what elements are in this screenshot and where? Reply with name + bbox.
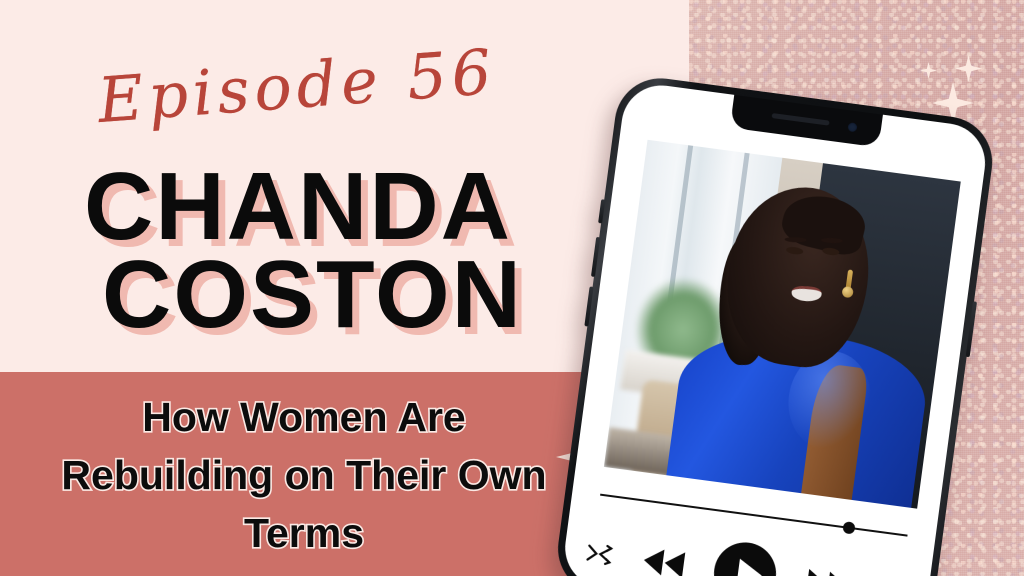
guest-name-block: CHANDA COSTON bbox=[84, 163, 523, 340]
podcast-episode-cover: Episode 56 CHANDA COSTON How Women Are R… bbox=[0, 0, 1024, 576]
phone-body bbox=[552, 73, 997, 576]
episode-title: How Women Are Rebuilding on Their Own Te… bbox=[18, 388, 582, 563]
guest-portrait bbox=[604, 140, 961, 509]
episode-number-script: Episode 56 bbox=[95, 35, 498, 137]
album-artwork bbox=[604, 140, 961, 509]
phone-screen bbox=[560, 81, 990, 576]
phone-mockup bbox=[552, 73, 997, 576]
volume-up-button[interactable] bbox=[591, 237, 600, 277]
episode-title-banner: How Women Are Rebuilding on Their Own Te… bbox=[0, 372, 608, 576]
earpiece-speaker bbox=[772, 113, 830, 126]
shuffle-icon[interactable] bbox=[585, 541, 614, 566]
guest-last-name: COSTON bbox=[102, 251, 523, 339]
fast-forward-icon[interactable] bbox=[803, 567, 851, 576]
mute-switch[interactable] bbox=[598, 199, 605, 223]
front-camera-icon bbox=[847, 122, 857, 132]
guest-first-name: CHANDA bbox=[84, 163, 523, 251]
rewind-icon[interactable] bbox=[639, 545, 687, 576]
progress-thumb[interactable] bbox=[842, 521, 855, 534]
play-icon[interactable] bbox=[710, 539, 780, 576]
volume-down-button[interactable] bbox=[584, 286, 593, 326]
